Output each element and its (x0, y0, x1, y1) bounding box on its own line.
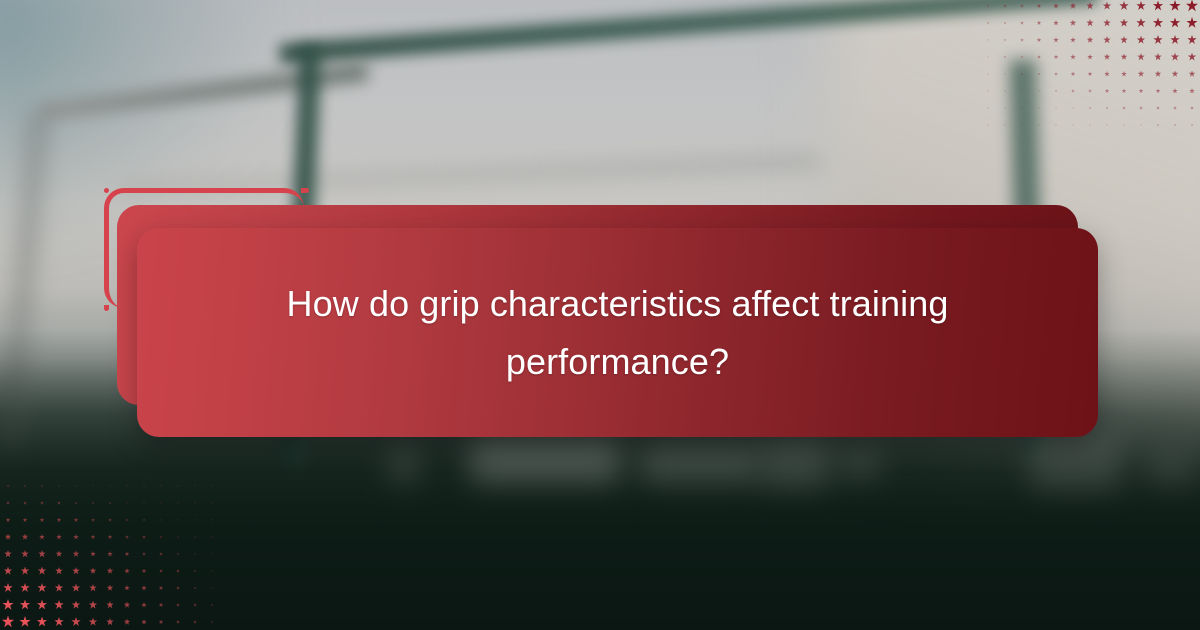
card-front-layer: How do grip characteristics affect train… (137, 228, 1098, 437)
social-share-card: How do grip characteristics affect train… (0, 0, 1200, 630)
outline-cap-horizontal (301, 188, 307, 193)
outline-cap-vertical (104, 305, 109, 311)
page-title: How do grip characteristics affect train… (137, 275, 1098, 391)
